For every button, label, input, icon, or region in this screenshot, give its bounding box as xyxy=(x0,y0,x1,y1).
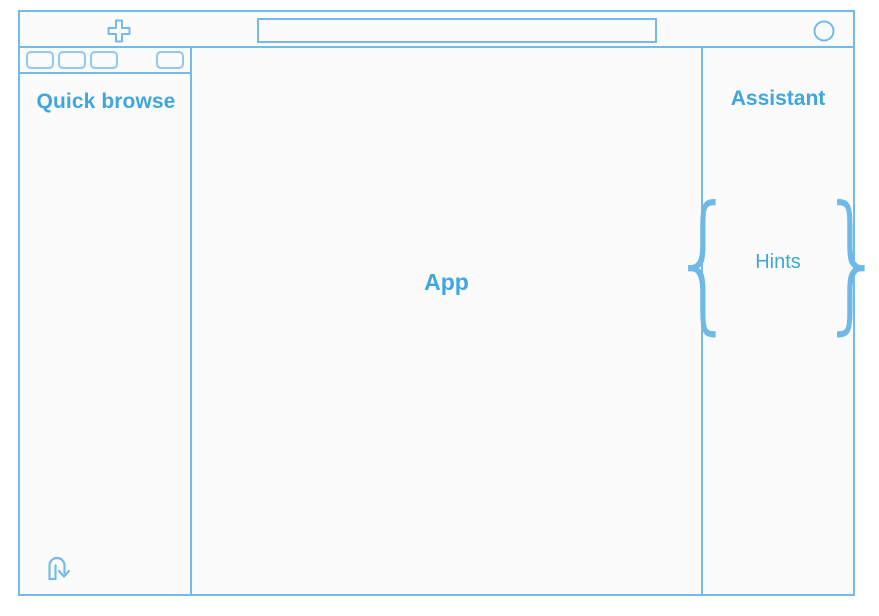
sidebar-panel: Quick browse xyxy=(20,48,192,594)
sidebar-toolbar-chip-4[interactable] xyxy=(156,51,184,69)
top-bar xyxy=(18,10,855,48)
circle-avatar-icon[interactable] xyxy=(813,20,835,42)
sidebar-toolbar xyxy=(20,48,192,74)
assistant-title: Assistant xyxy=(703,87,853,111)
hints-group: { Hints } xyxy=(711,191,845,333)
app-canvas[interactable]: App xyxy=(192,48,703,594)
sidebar-toolbar-chip-1[interactable] xyxy=(26,51,54,69)
back-button[interactable] xyxy=(40,550,74,584)
wireframe-app-window: Quick browse App Assistant { Hints } xyxy=(18,10,855,596)
window-body: Quick browse App Assistant { Hints } xyxy=(18,46,855,596)
sidebar-toolbar-chip-3[interactable] xyxy=(90,51,118,69)
sidebar-toolbar-chip-2[interactable] xyxy=(58,51,86,69)
search-input[interactable] xyxy=(257,18,657,43)
assistant-panel: Assistant { Hints } xyxy=(703,48,853,594)
u-turn-arrow-icon xyxy=(40,550,74,584)
app-label: App xyxy=(424,269,469,296)
plus-icon xyxy=(106,18,132,44)
hints-label: Hints xyxy=(751,251,805,274)
add-button[interactable] xyxy=(95,15,143,47)
quick-browse-title: Quick browse xyxy=(20,88,192,115)
